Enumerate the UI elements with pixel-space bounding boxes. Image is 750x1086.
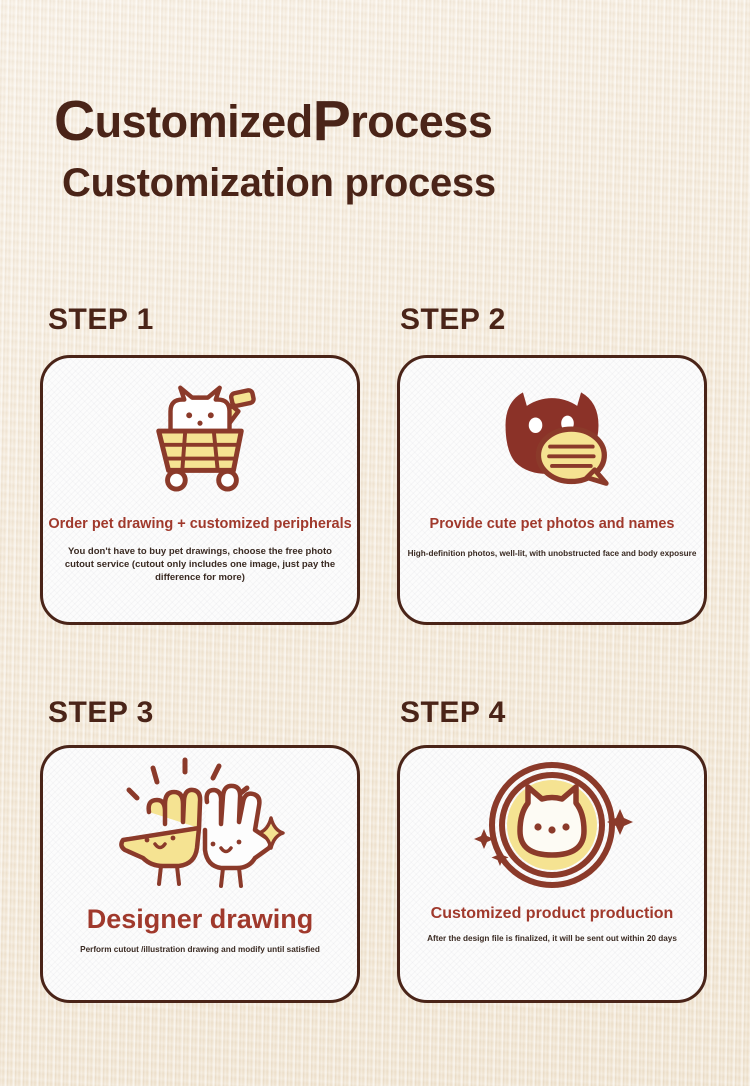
step-4-icon-area	[400, 748, 704, 906]
cat-badge-seal-icon	[462, 757, 642, 897]
step-label-4: STEP 4	[400, 698, 506, 728]
step-4-description: After the design file is finalized, it w…	[421, 933, 683, 944]
step-card-4[interactable]: Customized product production After the …	[397, 745, 707, 1003]
step-4-title: Customized product production	[431, 904, 674, 923]
step-block-4: STEP 4	[0, 0, 750, 1086]
